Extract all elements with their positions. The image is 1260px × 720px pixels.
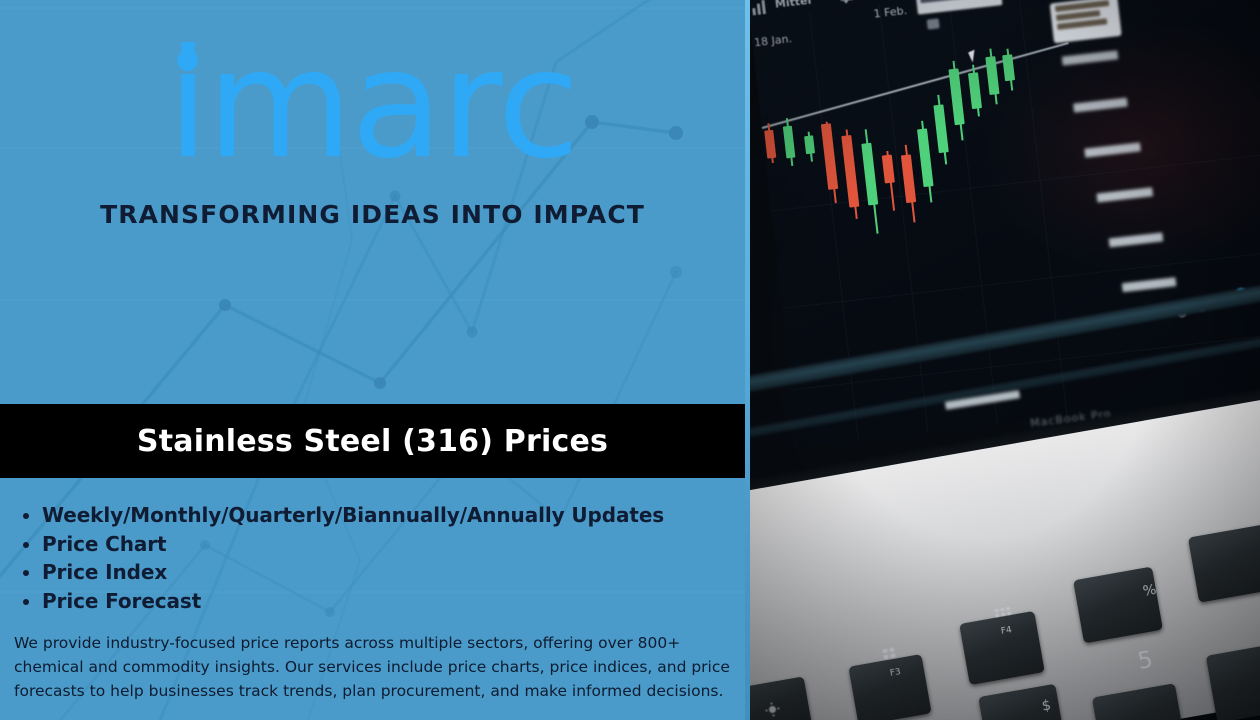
- poster-canvas: imarc TRANSFORMING IDEAS INTO IMPACT Sta…: [0, 0, 1260, 720]
- list-item: Price Chart: [42, 530, 664, 559]
- left-content-panel: imarc TRANSFORMING IDEAS INTO IMPACT Sta…: [0, 0, 745, 720]
- percent-five-key[interactable]: [1073, 567, 1163, 644]
- candle-down: [882, 155, 895, 184]
- candle-up: [861, 143, 878, 206]
- logo-wordmark-text: imarc: [167, 18, 578, 192]
- key-label: F3: [889, 667, 901, 679]
- analytics-icon: [751, 0, 770, 15]
- price-scale-label: [1122, 277, 1177, 292]
- list-item: Price Index: [42, 558, 664, 587]
- logo-wordmark: imarc: [167, 36, 578, 206]
- toolbar-glyph-icon: [927, 18, 940, 29]
- candle-up: [948, 68, 964, 125]
- price-scale-label: [1073, 98, 1128, 113]
- list-item: Weekly/Monthly/Quarterly/Biannually/Annu…: [42, 501, 664, 530]
- description-paragraph: We provide industry-focused price report…: [14, 631, 736, 703]
- title-bar: Stainless Steel (316) Prices: [0, 404, 745, 478]
- cursor-icon: [968, 50, 979, 63]
- price-tooltip: [1050, 0, 1122, 43]
- candle-down: [841, 135, 859, 208]
- candle-up: [804, 135, 815, 154]
- price-scale-label: [1062, 50, 1119, 65]
- list-item: Price Forecast: [42, 587, 664, 616]
- chat-icon: [839, 0, 855, 1]
- feature-list: Weekly/Monthly/Quarterly/Biannually/Annu…: [20, 501, 664, 615]
- date-right-label: 1 Feb.: [873, 4, 908, 21]
- price-scale-label: [1084, 142, 1141, 157]
- photo-left-edge: [745, 0, 750, 720]
- candle-up: [933, 104, 948, 153]
- price-scale-label: [1109, 232, 1164, 247]
- brand-logo: imarc TRANSFORMING IDEAS INTO IMPACT: [0, 36, 745, 229]
- trading-screen: Mittel Forum 1 Feb. 18 Jan. +1%: [745, 0, 1260, 447]
- key-label: F4: [1000, 625, 1012, 637]
- key-label: %: [1142, 582, 1158, 600]
- trend-line: [762, 42, 1069, 129]
- date-left-label: 18 Jan.: [753, 32, 792, 49]
- page-title: Stainless Steel (316) Prices: [137, 424, 608, 459]
- mission-control-key[interactable]: [848, 654, 931, 720]
- candle-down: [821, 123, 838, 190]
- price-scale-label: [1096, 187, 1153, 202]
- keyboard-key[interactable]: [1188, 523, 1260, 603]
- laptop-photo: Mittel Forum 1 Feb. 18 Jan. +1%: [745, 0, 1260, 720]
- candle-down: [764, 130, 776, 159]
- candle-up: [783, 126, 796, 159]
- launchpad-key[interactable]: [959, 611, 1045, 685]
- candle-up: [968, 72, 982, 109]
- mittel-label: Mittel: [774, 0, 812, 11]
- search-input[interactable]: [916, 0, 1002, 15]
- candle-up: [917, 128, 934, 187]
